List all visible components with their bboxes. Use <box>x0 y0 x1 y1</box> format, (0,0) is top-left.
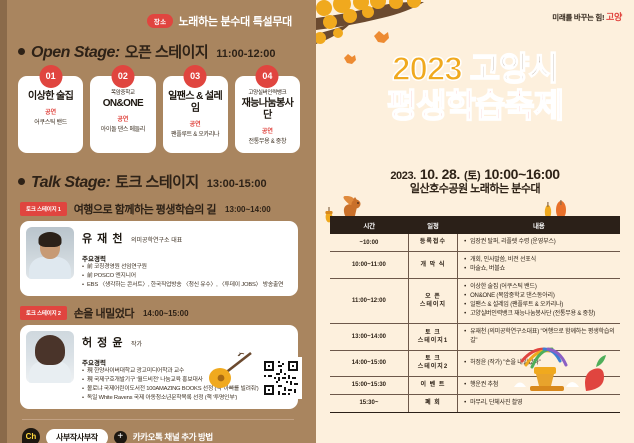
title-city: 고양시 <box>470 50 558 87</box>
brand-prefix: 미래를 바꾸는 힘! <box>552 13 604 22</box>
table-row: ~10:00 등록접수 입장권 탈퍼, 리플렛 수령 (운영부스) <box>330 234 620 252</box>
open-stage-heading: Open Stage: 오픈 스테이지 11:00-12:00 <box>18 41 306 62</box>
talk-header: 토크 스테이지 1 여행으로 함께하는 평생학습의 길 13:00~14:00 <box>20 201 298 217</box>
card-desc: 팬플루트 & 오카리나 <box>166 129 225 138</box>
table-header-row: 시간 일정 내용 <box>330 216 620 234</box>
card-desc: 어쿠스틱 밴드 <box>21 117 80 126</box>
talk-stage-en: Talk Stage: <box>31 174 110 192</box>
talk-stage-ko: 토크 스테이지 <box>115 171 198 192</box>
kakao-add-note: 카카오톡 채널 추가 방법 <box>133 431 213 443</box>
card-number: 04 <box>256 65 279 88</box>
svg-text:♪: ♪ <box>238 351 242 358</box>
card-title: 이상한 술집 <box>21 91 80 103</box>
open-stage-time: 11:00-12:00 <box>216 48 275 60</box>
title-line-1: 2023 고양시 <box>316 52 634 87</box>
speaker-photo <box>26 227 74 279</box>
card-subtitle: 고양실버인력뱅크 <box>238 90 297 97</box>
cell-program: 폐 회 <box>408 394 457 412</box>
cell-content: 이상한 술집 (어쿠스틱 밴드) ON&ONE (목암중학교 댄스동아리) 일팬… <box>458 279 620 324</box>
cell-time: 13:00~14:00 <box>330 324 408 351</box>
card-label: 공연 <box>93 114 152 123</box>
cell-program: 개 막 식 <box>408 252 457 279</box>
card-label: 공연 <box>21 107 80 116</box>
open-stage-ko: 오픈 스테이지 <box>125 41 208 62</box>
talk-stage-heading: Talk Stage: 토크 스테이지 13:00-15:00 <box>18 171 306 192</box>
content-item: 이상한 술집 (어쿠스틱 밴드) <box>464 283 617 292</box>
venue-badge: 장소 <box>147 14 174 28</box>
open-stage-en: Open Stage: <box>31 44 120 62</box>
title-year: 2023 <box>392 50 461 87</box>
guitar-icon: ♪ <box>208 350 254 395</box>
content-item: 입장권 탈퍼, 리플렛 수령 (운영부스) <box>464 238 617 247</box>
card-number: 03 <box>184 65 207 88</box>
venue-text: 노래하는 분수대 특설무대 <box>178 13 292 29</box>
card-title: 재능나눔봉사단 <box>238 98 297 122</box>
open-card: 02 목암중학교 ON&ONE 공연 아이돌 댄스 메들리 <box>90 76 155 153</box>
cell-time: 15:30~ <box>330 394 408 412</box>
divider <box>22 419 294 420</box>
talk-title: 손을 내밀었다 <box>74 305 134 321</box>
cell-program: 오 픈스테이지 <box>408 279 457 324</box>
card-number: 02 <box>111 65 134 88</box>
card-title: ON&ONE <box>93 98 152 110</box>
cell-time: ~10:00 <box>330 234 408 252</box>
photo-hair-shape <box>39 232 62 247</box>
poster-title: 2023 고양시 평생학습축제 <box>316 52 634 124</box>
talk-badge: 토크 스테이지 1 <box>20 202 67 216</box>
cell-time: 14:00~15:00 <box>330 351 408 377</box>
cell-time: 11:00~12:00 <box>330 279 408 324</box>
table-row: 10:00~11:00 개 막 식 개회, 인사말씀, 비전 선포식 마술쇼, … <box>330 252 620 279</box>
card-subtitle: 목암중학교 <box>93 90 152 97</box>
table-row: 11:00~12:00 오 픈스테이지 이상한 술집 (어쿠스틱 밴드) ON&… <box>330 279 620 324</box>
career-item: 前 코칭경영원 선임연구원 <box>82 263 292 272</box>
fountain-decoration-icon <box>500 341 620 401</box>
kakao-channel-row: Ch 사부작사부작 + 카카오톡 채널 추가 방법 <box>22 428 306 443</box>
speaker-role: 작가 <box>131 342 142 348</box>
qr-code <box>260 357 302 399</box>
cell-program: 토 크스테이지1 <box>408 324 457 351</box>
speaker-photo <box>26 331 74 383</box>
career-item: EBS 〈생각하는 콘서트〉, 한국직업방송 〈청신 유수〉, 〈투데이 JOB… <box>82 281 292 290</box>
speaker-name: 허 정 윤 <box>82 334 123 350</box>
festival-poster: 장소 노래하는 분수대 특설무대 Open Stage: 오픈 스테이지 11:… <box>0 0 634 443</box>
content-item: 마술쇼, 버블쇼 <box>464 265 617 274</box>
talk-badge: 토크 스테이지 2 <box>20 306 67 320</box>
speaker-info: 유 재 천 의미공학연구소 대표 주요경력 前 코칭경영원 선임연구원 前 PO… <box>82 227 292 290</box>
card-number: 01 <box>39 65 62 88</box>
speaker-name: 유 재 천 <box>82 230 123 246</box>
talk-session: 토크 스테이지 1 여행으로 함께하는 평생학습의 길 13:00~14:00 … <box>20 201 298 296</box>
kakao-channel-icon: Ch <box>22 428 40 443</box>
photo-body-shape <box>29 257 71 279</box>
left-program-panel: 장소 노래하는 분수대 특설무대 Open Stage: 오픈 스테이지 11:… <box>0 0 316 443</box>
photo-hair-shape <box>35 335 65 365</box>
talk-time: 14:00~15:00 <box>143 309 189 318</box>
career-item: 前 POSCO 엔지니어 <box>82 272 292 281</box>
open-card: 03 일팬스 & 설레임 공연 팬플루트 & 오카리나 <box>163 76 228 153</box>
talk-header: 토크 스테이지 2 손을 내밀었다 14:00~15:00 <box>20 305 298 321</box>
bullet-icon <box>18 178 25 185</box>
speaker-card: 허 정 윤 작가 주요경력 現 한양사이버대학교 광고미디어학과 교수 現 국제… <box>20 325 298 409</box>
cell-time: 15:00~15:30 <box>330 376 408 394</box>
talk-title: 여행으로 함께하는 평생학습의 길 <box>74 201 216 217</box>
plus-icon[interactable]: + <box>114 431 127 443</box>
talk-stage-time: 13:00-15:00 <box>207 178 267 190</box>
content-item: 고양실버인력뱅크 재능나눔봉사단 (전통무용 & 중창) <box>464 310 617 319</box>
card-desc: 아이돌 댄스 메들리 <box>93 124 152 133</box>
cell-content: 입장권 탈퍼, 리플렛 수령 (운영부스) <box>458 234 620 252</box>
card-title: 일팬스 & 설레임 <box>166 91 225 115</box>
content-item: ON&ONE (목암중학교 댄스동아리) <box>464 292 617 301</box>
talk-session: 토크 스테이지 2 손을 내밀었다 14:00~15:00 허 정 윤 작가 주… <box>20 305 298 409</box>
cell-program: 토 크스테이지2 <box>408 351 457 377</box>
kakao-channel-name[interactable]: 사부작사부작 <box>46 429 108 443</box>
open-stage-cards: 01 이상한 술집 공연 어쿠스틱 밴드 02 목암중학교 ON&ONE 공연 … <box>18 76 300 153</box>
right-title-panel: 미래를 바꾸는 힘! 고양 2023 고양시 평생학습축제 2023. 10. … <box>316 0 634 443</box>
col-header-time: 시간 <box>330 216 408 234</box>
card-label: 공연 <box>166 119 225 128</box>
card-desc: 전통무용 & 중창 <box>238 136 297 145</box>
title-subject: 평생학습축제 <box>316 89 634 124</box>
bullet-icon <box>18 48 25 55</box>
career-heading: 주요경력 <box>82 253 292 263</box>
open-card: 01 이상한 술집 공연 어쿠스틱 밴드 <box>18 76 83 153</box>
cell-time: 10:00~11:00 <box>330 252 408 279</box>
content-item: 개회, 인사말씀, 비전 선포식 <box>464 256 617 265</box>
speaker-role: 의미공학연구소 대표 <box>131 238 182 244</box>
talk-time: 13:00~14:00 <box>225 205 271 214</box>
open-card: 04 고양실버인력뱅크 재능나눔봉사단 공연 전통무용 & 중창 <box>235 76 300 153</box>
speaker-card: 유 재 천 의미공학연구소 대표 주요경력 前 코칭경영원 선임연구원 前 PO… <box>20 221 298 296</box>
cell-content: 개회, 인사말씀, 비전 선포식 마술쇼, 버블쇼 <box>458 252 620 279</box>
brand-accent: 고양 <box>606 12 622 22</box>
venue-row: 장소 노래하는 분수대 특설무대 <box>10 13 306 29</box>
cell-program: 등록접수 <box>408 234 457 252</box>
event-place: 일산호수공원 노래하는 분수대 <box>316 180 634 196</box>
cell-program: 이 벤 트 <box>408 376 457 394</box>
city-brand-slogan: 미래를 바꾸는 힘! 고양 <box>552 10 622 23</box>
col-header-content: 내용 <box>458 216 620 234</box>
col-header-program: 일정 <box>408 216 457 234</box>
content-item: 일팬스 & 설레임 (팬플루트 & 오카리나) <box>464 301 617 310</box>
card-label: 공연 <box>238 126 297 135</box>
